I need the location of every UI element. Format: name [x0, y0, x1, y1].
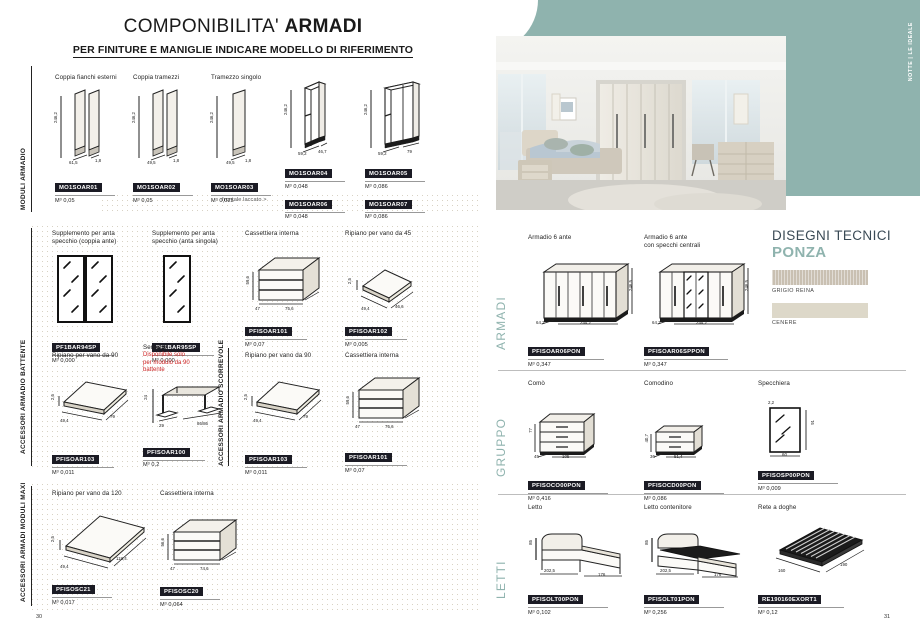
- item-armadio-6-ante: Armadio 6 ante: [528, 234, 638, 368]
- page-title-bold: ARMADI: [285, 16, 363, 37]
- dim-height: 77: [528, 428, 533, 433]
- product-volume: M³ 0,2: [143, 462, 231, 468]
- code-underline: [245, 467, 307, 468]
- code-block: PFISOAR103 M³ 0,011: [52, 448, 140, 476]
- dim-length: 202,5: [660, 568, 671, 573]
- dim-depth: 47: [170, 566, 175, 571]
- product-code: PFISOAR103: [245, 455, 292, 464]
- item-caption: Armadio 6 ante: [528, 234, 638, 242]
- product-code: MO1SOAR06: [285, 200, 332, 209]
- item-caption: Servetto: [143, 344, 231, 352]
- drawing-como: 77 45 105: [528, 410, 608, 460]
- item-ripiano-90-scorrevole: Ripiano per vano da 90 2,5 49,4 79 PFISO…: [245, 352, 333, 476]
- product-volume: M³ 0,086: [365, 184, 445, 190]
- dim-height: 246,2: [131, 112, 136, 123]
- drawing-cassettiera-scorr: 59,6 47 75,6: [345, 374, 425, 432]
- dim-depth: 64,3: [652, 320, 661, 325]
- drawing-letto: 85 202,5 176: [528, 530, 636, 580]
- product-volume: M³ 0,256: [644, 610, 752, 616]
- dim-height: 85: [528, 540, 533, 545]
- code-underline: [285, 181, 345, 182]
- item-caption: Coppia tramezzi: [133, 74, 213, 82]
- product-code: PFISOAR101: [345, 453, 392, 462]
- item-cassettiera-maxi: Cassettiera interna 56,6 47 74,6 PFISOSC…: [160, 490, 244, 608]
- dim-width: 51,4: [674, 454, 683, 459]
- catalog-page: COMPONIBILITA' ARMADI PER FINITURE E MAN…: [0, 0, 920, 640]
- section-label-moduli: MODULI ARMADIO: [20, 148, 27, 210]
- divider-armadi-gruppo: [498, 370, 906, 371]
- section-label-letti: LETTI: [494, 556, 508, 604]
- drawing-armadio-6-ante: 246,5 64,3 244,2: [528, 254, 638, 326]
- divider-gruppo-letti: [498, 494, 906, 495]
- item-servetto: Servetto Disponibile solo per modulo da …: [143, 344, 231, 468]
- product-volume: M³ 0,064: [160, 602, 244, 608]
- product-volume: M³ 0,347: [528, 362, 638, 368]
- page-title-light: COMPONIBILITA': [124, 16, 285, 37]
- code-underline: [52, 467, 114, 468]
- product-code: PFISOLT01PON: [644, 595, 699, 604]
- drawing-coppia-fianchi: 246,2 61,5 1,8: [55, 88, 135, 166]
- teal-background-right: [786, 0, 920, 196]
- drawing-armadio-6-ante-specchi: 246,5 64,3 244,2: [644, 254, 754, 326]
- dim-height: 85: [644, 540, 649, 545]
- dim-thickness: 1,8: [95, 158, 101, 163]
- drawing-ripiano-90: 2,5 49,4 79: [52, 374, 140, 426]
- swatch-cenere: [772, 303, 868, 318]
- product-volume: M³ 0,102: [528, 610, 636, 616]
- item-modulo-47: 246,2 59,2 46,7 MO1SOAR04 M³ 0,048 MO1SO…: [285, 80, 355, 220]
- code-block: PFISOLT00PON M³ 0,102: [528, 588, 636, 616]
- product-volume: M³ 0,017: [52, 600, 152, 606]
- dim-height: 91: [810, 420, 815, 425]
- item-caption: Letto contenitore: [644, 504, 752, 512]
- dim-thickness: 1,8: [173, 158, 179, 163]
- item-caption: Letto: [528, 504, 636, 512]
- item-tramezzo-singolo: Tramezzo singolo 246,2 49,5 1,8 MO1SOAR0…: [211, 74, 291, 204]
- section-label-acc-battente: ACCESSORI ARMADIO BATTENTE: [20, 330, 27, 464]
- dim-height: 59,6: [345, 396, 350, 405]
- product-volume: M³ 0,07: [345, 468, 425, 474]
- product-code: PFISOAR06SPPON: [644, 347, 709, 356]
- drawing-specchio-singola: [152, 254, 222, 326]
- dim-width: 176: [598, 572, 605, 577]
- dim-length: 190: [840, 562, 847, 567]
- divider-moduli: [31, 66, 32, 212]
- code-block: PFISOAR06SPPON M³ 0,347: [644, 340, 754, 368]
- dim-width: 105: [562, 454, 569, 459]
- code-underline: [528, 607, 608, 608]
- item-como: Comò 77: [528, 380, 608, 502]
- dim-width: 49,5: [226, 160, 235, 165]
- dim-height: 246,2: [283, 104, 288, 115]
- item-caption: Ripiano per vano da 90: [245, 352, 333, 360]
- product-code: PFISOAR101: [245, 327, 292, 336]
- product-code: RE190160EXORT1: [758, 595, 821, 604]
- item-caption: Cassettiera interna: [245, 230, 325, 238]
- item-caption: Armadio 6 ante con specchi centrali: [644, 234, 754, 250]
- drawing-rete-a-doghe: 160 190: [758, 524, 870, 582]
- code-underline: [345, 465, 407, 466]
- product-volume: M³ 0,005: [345, 342, 425, 348]
- code-underline: [365, 181, 425, 182]
- dim-width: 86/86: [197, 421, 208, 426]
- dim-width: 61,5: [69, 160, 78, 165]
- product-volume: M³ 0,086: [644, 496, 724, 502]
- product-code: PFISOCO00PON: [528, 481, 585, 490]
- code-underline: [758, 607, 844, 608]
- product-volume: M³ 0,05: [133, 198, 213, 204]
- dim-depth: 49,4: [60, 564, 69, 569]
- dim-thickness: 2,2: [768, 400, 774, 405]
- dim-depth: 45: [534, 454, 539, 459]
- code-underline: [345, 339, 407, 340]
- dim-depth: 47: [355, 424, 360, 429]
- product-volume: M³ 0,048: [285, 214, 355, 220]
- dim-thickness: 2,5: [347, 278, 352, 284]
- product-code: PFISOCD00PON: [644, 481, 701, 490]
- code-underline: [52, 597, 112, 598]
- drawing-letto-contenitore: 85 202,5 176: [644, 530, 752, 580]
- item-cassettiera-interna-45: Cassettiera interna 59,6 47 75,6 PFISOAR…: [245, 230, 325, 348]
- dim-height: 56,6: [160, 538, 165, 547]
- item-letto: Letto 85 202,5 176 PFISOLT00PO: [528, 504, 636, 616]
- dim-thickness: 2,5: [50, 394, 55, 400]
- dim-width: 79: [407, 149, 412, 154]
- dim-width: 74,6: [200, 566, 209, 571]
- drawing-cassettiera-maxi: 56,6 47 74,6: [160, 516, 244, 574]
- code-block: PFISOAR101 M³ 0,07: [245, 320, 325, 348]
- item-caption: Rete a doghe: [758, 504, 870, 512]
- code-block: RE190160EXORT1 M³ 0,12: [758, 588, 870, 616]
- divider-accessori: [31, 228, 32, 466]
- item-ripiano-90-battente: Ripiano per vano da 90 2,5 49,4 79 PFISO…: [52, 352, 140, 476]
- drawing-ripiano-90-scorr: 2,5 49,4 79: [245, 374, 333, 426]
- code-block: PFISOAR102 M³ 0,005: [345, 320, 425, 348]
- dim-depth: 36: [650, 454, 655, 459]
- code-underline: [285, 212, 345, 213]
- product-code: PFISOSC21: [52, 585, 95, 594]
- drawing-comodino: 40,7 36 51,4: [644, 420, 718, 460]
- item-caption: Supplemento per anta specchio (coppia an…: [52, 230, 122, 246]
- product-volume: M³ 0,347: [644, 362, 754, 368]
- page-number-left: 30: [36, 614, 42, 620]
- product-code: PFISOLT00PON: [528, 595, 583, 604]
- dim-height: 246,5: [628, 280, 633, 291]
- code-underline: [245, 339, 307, 340]
- dim-height: 40,7: [644, 434, 649, 443]
- item-rete-a-doghe: Rete a doghe 160 190: [758, 504, 870, 616]
- dim-width: 46,7: [318, 149, 327, 154]
- product-volume: M³ 0,009: [758, 486, 838, 492]
- code-block: PFISOSC20 M³ 0,064: [160, 580, 244, 608]
- item-caption: Cassettiera interna: [345, 352, 425, 360]
- product-code: PFISOAR102: [345, 327, 392, 336]
- code-block: PFISOAR103 M³ 0,011: [245, 448, 333, 476]
- dim-width: 75,6: [285, 306, 294, 311]
- product-volume: M³ 0,416: [528, 496, 608, 502]
- drawing-modulo-79: 246,2 59,2 79: [365, 80, 445, 158]
- item-ripiano-120: Ripiano per vano da 120 2,5 49,4 118,4 P…: [52, 490, 152, 606]
- item-caption: Cassettiera interna: [160, 490, 244, 498]
- dim-height: 246,2: [53, 112, 58, 123]
- tech-title-line2: PONZA: [772, 244, 920, 261]
- dim-width: 75,6: [385, 424, 394, 429]
- dim-height: 246,2: [363, 104, 368, 115]
- item-caption: Specchiera: [758, 380, 838, 388]
- dim-width: 79: [110, 414, 115, 419]
- dim-width: 244,2: [696, 320, 707, 325]
- code-block: PFISOSP00PON M³ 0,009: [758, 464, 838, 492]
- servetto-note: Disponibile solo per modulo da 90 batten…: [143, 352, 231, 375]
- dim-height: 246,2: [209, 112, 214, 123]
- dim-width: 46,6: [395, 304, 404, 309]
- code-underline: [211, 195, 271, 196]
- product-code: MO1SOAR04: [285, 169, 332, 178]
- product-code: MO1SOAR05: [365, 169, 412, 178]
- section-label-gruppo: GRUPPO: [494, 414, 508, 480]
- product-volume: M³ 0,12: [758, 610, 870, 616]
- dim-depth: 59,2: [378, 151, 387, 156]
- dim-depth: 49,4: [253, 418, 262, 423]
- drawing-coppia-tramezzi: 246,2 49,5 1,8: [133, 88, 213, 166]
- product-volume: M³ 0,05: [55, 198, 135, 204]
- code-block-1: MO1SOAR05 M³ 0,086: [365, 162, 445, 190]
- code-underline: [528, 359, 604, 360]
- item-specchiera: Specchiera 2,2 91 60 PFISOSP00PON: [758, 380, 838, 492]
- dim-thickness: 1,8: [245, 158, 251, 163]
- swatch-label-grigio-reina: GRIGIO REINA: [772, 288, 920, 294]
- code-block: PFISOLT01PON M³ 0,256: [644, 588, 752, 616]
- item-supplemento-specchio-coppia: Supplemento per anta specchio (coppia an…: [52, 230, 122, 364]
- code-underline: [143, 460, 205, 461]
- code-block-1: MO1SOAR04 M³ 0,048: [285, 162, 355, 190]
- dim-height: 246,5: [744, 280, 749, 291]
- dim-width: 60: [782, 452, 787, 457]
- code-block-2: MO1SOAR06 M³ 0,048: [285, 193, 355, 221]
- dim-width: 79: [303, 414, 308, 419]
- drawing-cassettiera: 59,6 47 75,6: [245, 252, 325, 314]
- swatch-grigio-reina: [772, 270, 868, 285]
- product-code: MO1SOAR01: [55, 183, 102, 192]
- tech-title-line1: DISEGNI TECNICI: [772, 228, 920, 243]
- dim-depth: 49,4: [60, 418, 69, 423]
- drawing-ripiano-120: 2,5 49,4 118,4: [52, 508, 152, 572]
- tech-drawings-title-block: DISEGNI TECNICI PONZA GRIGIO REINA CENER…: [772, 228, 920, 326]
- swatch-label-cenere: CENERE: [772, 320, 920, 326]
- item-caption: Comodino: [644, 380, 724, 388]
- code-block: PFISOAR100 M³ 0,2: [143, 441, 231, 469]
- dim-width: 160: [778, 568, 785, 573]
- dim-depth: 29: [159, 423, 164, 428]
- page-subtitle: PER FINITURE E MANIGLIE INDICARE MODELLO…: [0, 44, 486, 56]
- code-block-2: MO1SOAR07 M³ 0,086: [365, 193, 445, 221]
- item-caption: Comò: [528, 380, 608, 388]
- product-code: MO1SOAR02: [133, 183, 180, 192]
- dim-height: 24: [143, 395, 148, 400]
- section-label-armadi: ARMADI: [494, 292, 508, 354]
- code-underline: [55, 195, 115, 196]
- code-block: MO1SOAR02 M³ 0,05: [133, 176, 213, 204]
- code-block: PFISOCD00PON M³ 0,086: [644, 474, 724, 502]
- item-cassettiera-interna-scorrevole: Cassettiera interna 59,6 47 75,6 PFISOAR…: [345, 352, 425, 474]
- drawing-specchiera: 2,2 91 60: [758, 402, 828, 460]
- divider-maxi: [31, 486, 32, 606]
- product-code: PFISOSP00PON: [758, 471, 814, 480]
- code-underline: [644, 359, 728, 360]
- item-caption: Ripiano per vano da 90: [52, 352, 140, 360]
- dim-depth: 59,2: [298, 151, 307, 156]
- dim-thickness: 2,5: [50, 536, 55, 542]
- dim-width: 118,4: [116, 556, 127, 561]
- section-label-acc-maxi: ACCESSORI ARMADI MODULI MAXI: [20, 498, 27, 602]
- drawing-servetto: 24 29 86/86: [143, 381, 231, 433]
- drawing-ripiano-45: 2,5 49,4 46,6: [345, 262, 425, 314]
- page-number-right: 31: [884, 614, 890, 620]
- drawing-tramezzo-singolo: 246,2 49,5 1,8: [211, 88, 291, 166]
- bedroom-photo: [496, 36, 786, 210]
- drawing-modulo-47: 246,2 59,2 46,7: [285, 80, 355, 158]
- item-armadio-6-ante-specchi: Armadio 6 ante con specchi centrali: [644, 234, 754, 368]
- item-coppia-fianchi-esterni: Coppia fianchi esterni 246,2 61,5 1,8 MO…: [55, 74, 135, 204]
- item-caption: Ripiano per vano da 45: [345, 230, 425, 238]
- dim-depth: 49,4: [361, 306, 370, 311]
- dim-height: 59,6: [245, 276, 250, 285]
- product-code: PFISOAR103: [52, 455, 99, 464]
- item-caption: Supplemento per anta specchio (anta sing…: [152, 230, 222, 246]
- item-ripiano-45: Ripiano per vano da 45 2,5 49,4 46,6 PFI…: [345, 230, 425, 348]
- code-underline: [133, 195, 193, 196]
- dim-depth: 47: [255, 306, 260, 311]
- item-caption: Tramezzo singolo: [211, 74, 291, 82]
- product-volume: M³ 0,048: [285, 184, 355, 190]
- code-underline: [160, 599, 220, 600]
- dim-thickness: 2,5: [243, 394, 248, 400]
- page-title: COMPONIBILITA' ARMADI: [0, 16, 486, 38]
- dim-width: 176: [714, 572, 721, 577]
- dim-width: 244,2: [580, 320, 591, 325]
- photo-side-text: NOTTE | LE IDEALE: [908, 22, 914, 81]
- dim-width: 49,5: [147, 160, 156, 165]
- product-code: PFISOAR06PON: [528, 347, 585, 356]
- item-coppia-tramezzi: Coppia tramezzi 246,2 49,5 1,8 MO1SOAR02: [133, 74, 213, 204]
- code-block: PFISOSC21 M³ 0,017: [52, 578, 152, 606]
- product-volume: M³ 0,011: [52, 470, 140, 476]
- product-volume: M³ 0,07: [245, 342, 325, 348]
- product-code: PFISOAR100: [143, 448, 190, 457]
- code-underline: [365, 212, 425, 213]
- item-modulo-79: 246,2 59,2 79 MO1SOAR05 M³ 0,086 MO1SOAR…: [365, 80, 445, 220]
- product-code: PFISOSC20: [160, 587, 203, 596]
- product-code: MO1SOAR07: [365, 200, 412, 209]
- product-volume: M³ 0,086: [365, 214, 445, 220]
- right-page: NOTTE | LE IDEALE DISEGNI TECNICI PONZA …: [486, 0, 920, 640]
- item-comodino: Comodino 40,7 36 51,4: [644, 380, 724, 502]
- product-code: MO1SOAR03: [211, 183, 258, 192]
- drawing-specchio-coppia: [52, 254, 122, 326]
- item-caption: Coppia fianchi esterni: [55, 74, 135, 82]
- code-block: PFISOCO00PON M³ 0,416: [528, 474, 608, 502]
- item-caption: Ripiano per vano da 120: [52, 490, 152, 498]
- hero-photo-block: NOTTE | LE IDEALE: [486, 0, 920, 215]
- product-volume: M³ 0,011: [245, 470, 333, 476]
- dim-length: 202,5: [544, 568, 555, 573]
- code-block: PFISOAR06PON M³ 0,347: [528, 340, 638, 368]
- item-letto-contenitore: Letto contenitore 85 202,5 176 PFISOLT01…: [644, 504, 752, 616]
- left-page: COMPONIBILITA' ARMADI PER FINITURE E MAN…: [0, 0, 486, 640]
- note-frontale-laccato: frontale laccato >: [222, 197, 267, 203]
- dim-depth: 64,3: [536, 320, 545, 325]
- code-underline: [758, 483, 838, 484]
- code-underline: [644, 607, 724, 608]
- code-block: PFISOAR101 M³ 0,07: [345, 446, 425, 474]
- code-block: MO1SOAR01 M³ 0,05: [55, 176, 135, 204]
